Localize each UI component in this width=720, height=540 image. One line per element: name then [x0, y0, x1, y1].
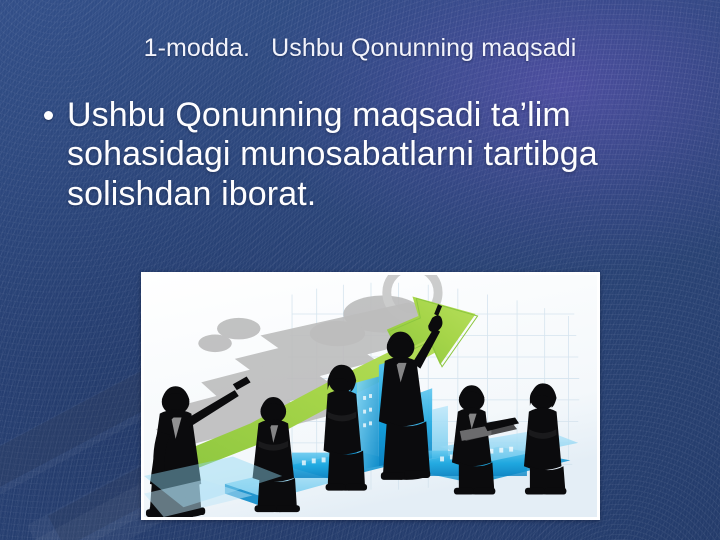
bullet-text: Ushbu Qonunning maqsadi ta’lim sohasidag…	[67, 96, 684, 214]
slide-canvas: 1-modda. Ushbu Qonunning maqsadi Ushbu Q…	[0, 0, 720, 540]
slide-title: 1-modda. Ushbu Qonunning maqsadi	[56, 34, 664, 62]
list-item: Ushbu Qonunning maqsadi ta’lim sohasidag…	[36, 96, 684, 214]
slide-body: Ushbu Qonunning maqsadi ta’lim sohasidag…	[36, 96, 684, 214]
bullet-dot-icon	[44, 111, 53, 120]
slide-image	[141, 272, 600, 520]
